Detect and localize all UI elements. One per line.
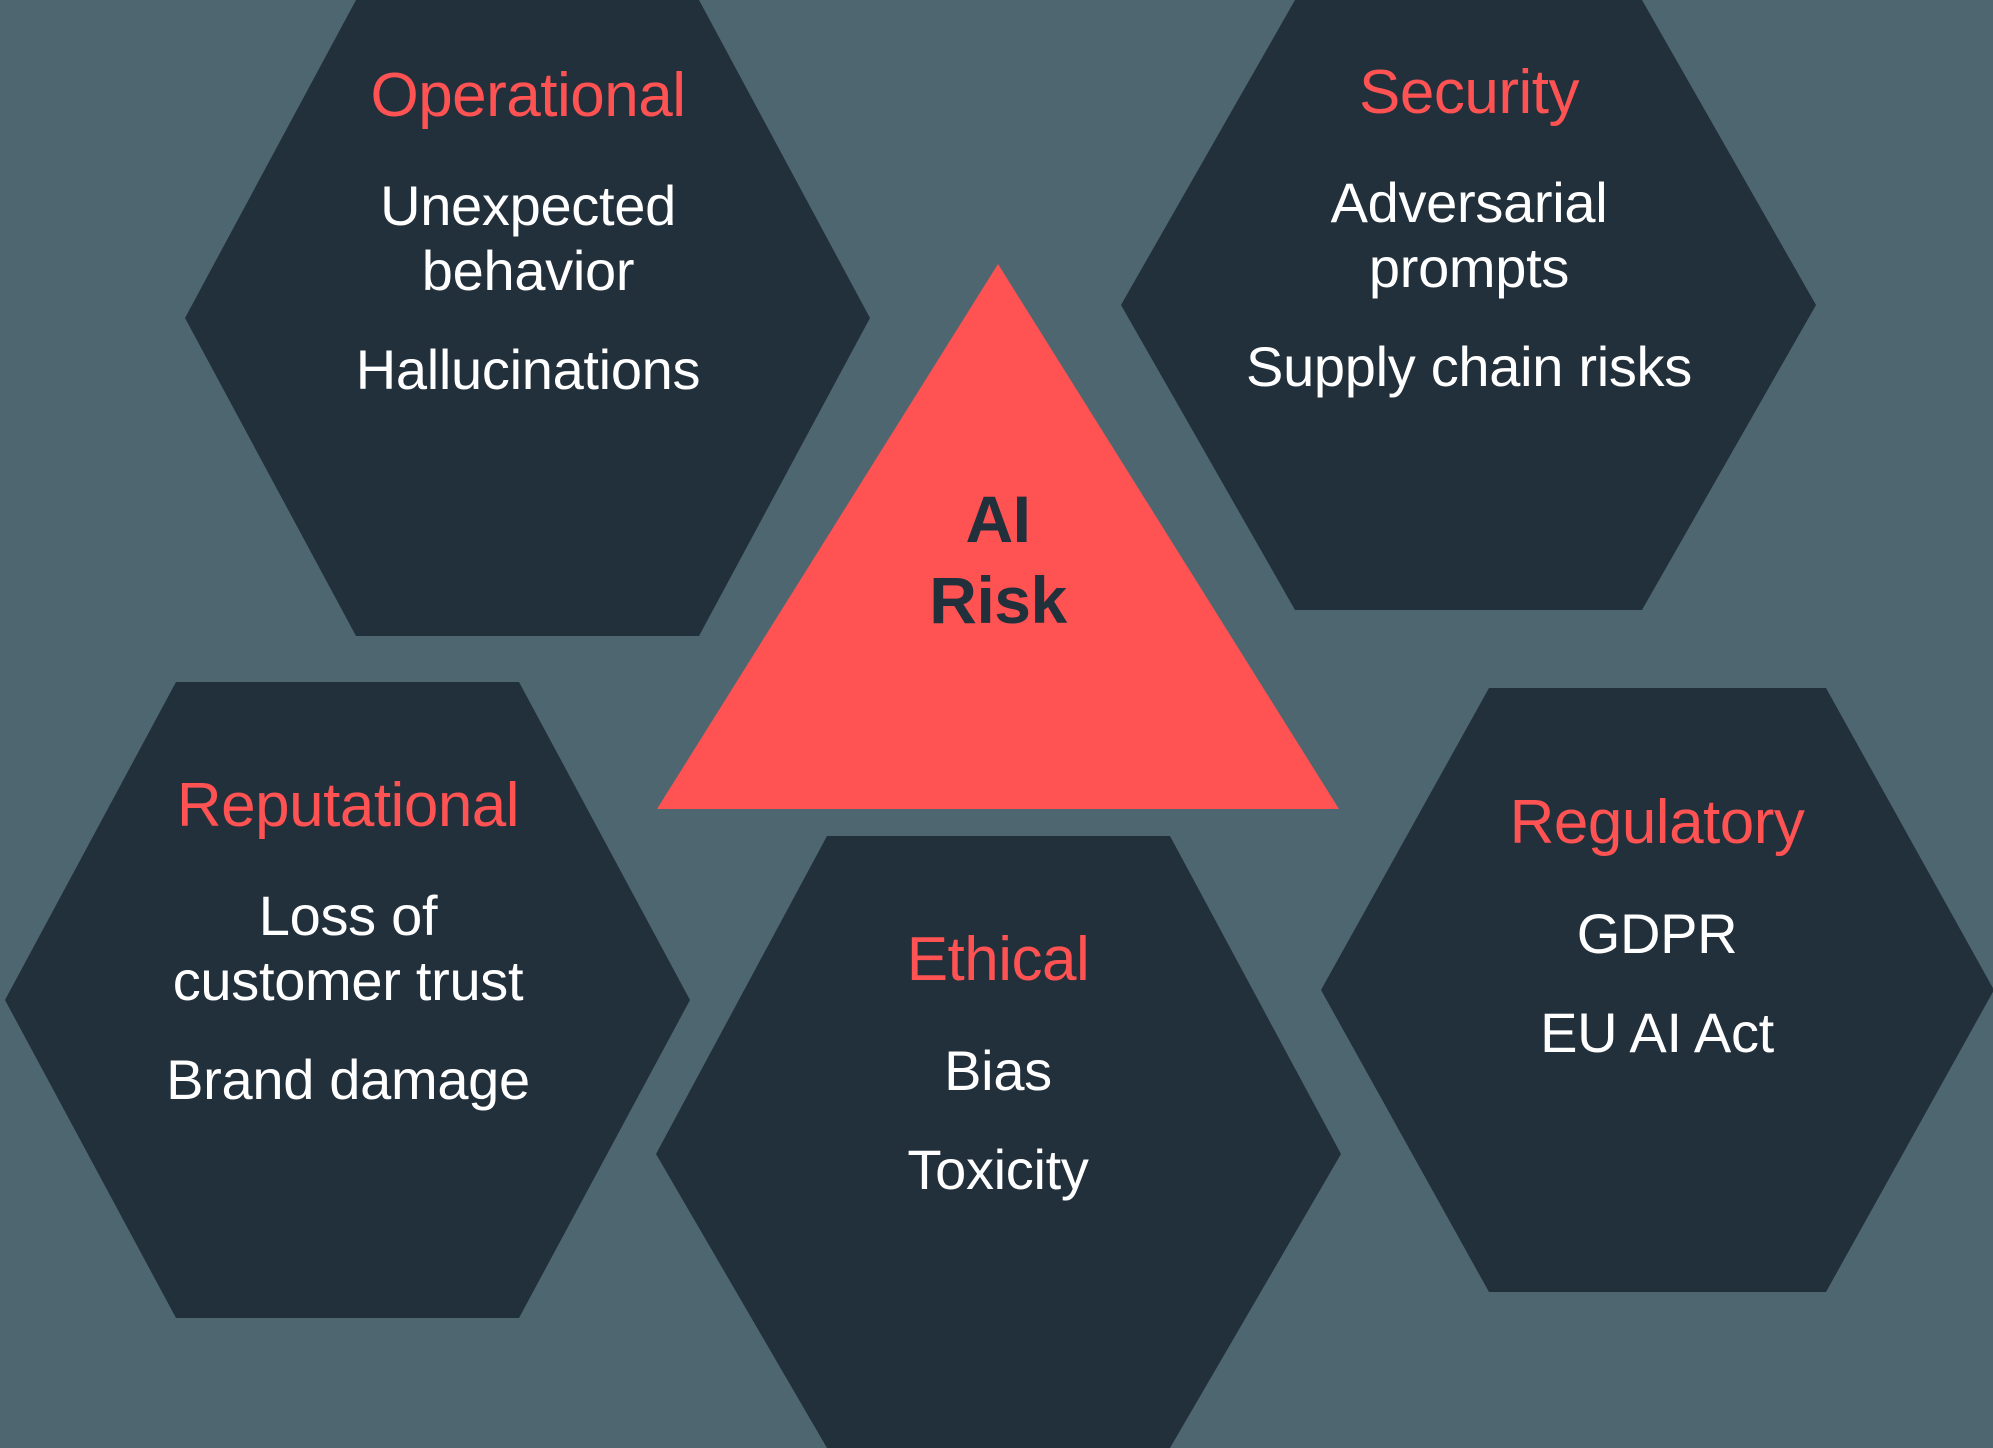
hexagon-operational[interactable] [185, 0, 870, 636]
hexagon-ethical[interactable] [656, 836, 1341, 1448]
hexagon-security[interactable] [1121, 0, 1816, 610]
hexagon-regulatory[interactable] [1321, 688, 1993, 1292]
diagram-shapes-layer [0, 0, 1993, 1448]
ai-risk-diagram: Operational Unexpected behavior Hallucin… [0, 0, 1993, 1448]
hexagon-reputational[interactable] [5, 682, 690, 1318]
